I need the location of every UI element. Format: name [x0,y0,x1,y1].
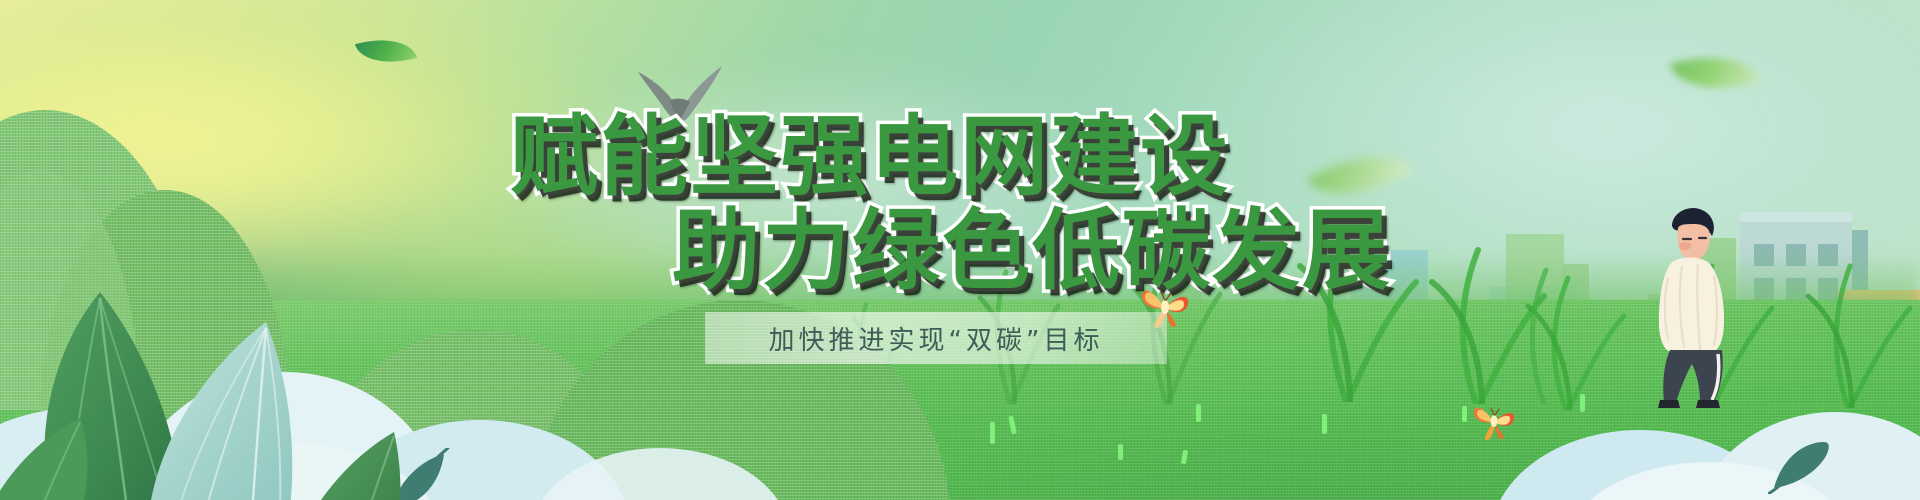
subtitle-text: 加快推进实现“双碳”目标 [705,312,1167,364]
butterfly [1470,400,1518,442]
eco-power-banner: 赋能坚强电网建设 助力绿色低碳发展 加快推进实现“双碳”目标 [0,0,1920,500]
grass-sprig [1462,406,1467,422]
grass-sprig [990,422,995,444]
grass-cluster [1480,254,1620,404]
swallow-silhouette [630,62,730,128]
grass-sprig [1118,444,1123,460]
small-leaf [1768,436,1842,494]
large-leaf-dark [0,414,120,500]
walking-person [1638,200,1748,410]
grass-sprig [1322,414,1327,434]
large-leaf-dark [244,428,464,500]
building-roof [1740,212,1852,222]
grass-cluster [1780,248,1920,408]
grass-sprig [1580,394,1585,412]
grass-sprig [1196,404,1201,422]
